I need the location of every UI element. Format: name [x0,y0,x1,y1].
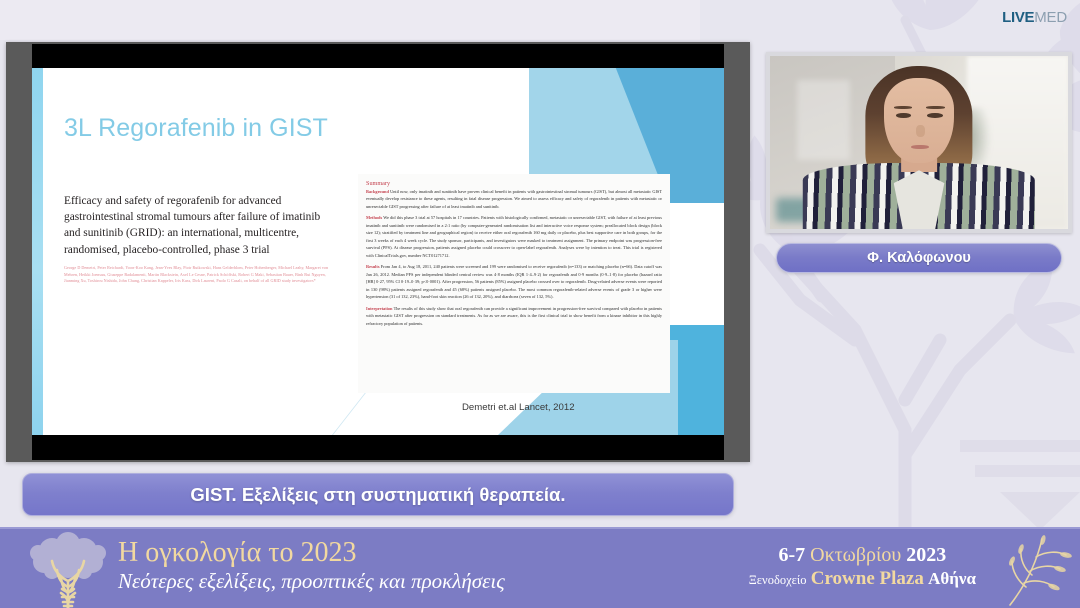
abstract-text-background: Until now, only imatinib and sunitinib h… [366,189,662,209]
speaker-nose [916,125,925,137]
conference-date-year: 2023 [906,544,946,566]
abstract-paragraph-results: Results From Jan 4, to Aug 18, 2011, 240… [366,263,662,300]
slide-citation: Demetri et.al Lancet, 2012 [462,402,575,413]
abstract-label-background: Background [366,189,389,194]
conference-date: 6-7 Οκτωβρίου 2023 [749,543,976,567]
abstract-label-methods: Methods [366,215,382,220]
speaker-name-badge: Φ. Καλόφωνου [776,243,1062,273]
venue-hotel: Crowne Plaza [811,568,924,589]
speaker-video-feed [770,56,1068,229]
abstract-panel: Summary Background Until now, only imati… [358,174,670,393]
abstract-paragraph-interpretation: Interpretation The results of this study… [366,305,662,327]
abstract-text-results: From Jan 4, to Aug 18, 2011, 240 patient… [366,264,662,299]
speaker-name-text: Φ. Καλόφωνου [867,250,971,266]
logo-med-text: MED [1034,9,1067,26]
abstract-text-methods: We did this phase 3 trial at 57 hospital… [366,215,662,257]
session-title-bar: GIST. Εξελίξεις στη συστηματική θεραπεία… [22,473,734,516]
speaker-face [884,78,954,163]
abstract-paragraph-methods: Methods We did this phase 3 trial at 57 … [366,214,662,259]
conference-date-block: 6-7 Οκτωβρίου 2023 Ξενοδοχείο Crowne Pla… [749,543,976,592]
olive-branch-decor [1002,531,1074,607]
speaker-webcam-panel[interactable] [766,52,1072,233]
abstract-paragraph-background: Background Until now, only imatinib and … [366,188,662,210]
abstract-text-interpretation: The results of this study show that oral… [366,306,662,326]
venue-prefix: Ξενοδοχείο [749,573,807,587]
conference-date-days: 6-7 [778,544,805,566]
slide-letterbox: 3L Regorafenib in GIST Efficacy and safe… [32,44,724,460]
abstract-heading: Summary [366,180,662,187]
tree-dna-logo [22,531,116,608]
livemed-logo: LIVEMED [1002,9,1067,26]
session-title-text: GIST. Εξελίξεις στη συστηματική θεραπεία… [190,484,565,506]
paper-authors: George D Demetri, Peter Reichardt, Yoon-… [64,265,339,285]
slide-canvas: 3L Regorafenib in GIST Efficacy and safe… [32,68,724,435]
conference-title-block: Η ογκολογία το 2023 Νεότερες εξελίξεις, … [118,537,505,595]
venue-city: Αθήνα [928,569,976,588]
presentation-slide-frame[interactable]: 3L Regorafenib in GIST Efficacy and safe… [6,42,750,462]
conference-subtitle: Νεότερες εξελίξεις, προοπτικές και προκλ… [118,568,505,594]
abstract-label-interpretation: Interpretation [366,306,392,311]
webcam-bg-picture-frame [797,80,851,160]
conference-venue: Ξενοδοχείο Crowne Plaza Αθήνα [749,567,976,592]
conference-date-month: Οκτωβρίου [810,544,901,566]
paper-title-block: Efficacy and safety of regorafenib for a… [64,193,339,285]
abstract-label-results: Results [366,264,380,269]
slide-decor-left-band [32,68,43,435]
slide-title: 3L Regorafenib in GIST [64,114,328,143]
conference-footer: Η ογκολογία το 2023 Νεότερες εξελίξεις, … [0,527,1080,608]
paper-title: Efficacy and safety of regorafenib for a… [64,193,339,258]
conference-title: Η ογκολογία το 2023 [118,537,505,568]
logo-live-text: LIVE [1002,9,1034,26]
